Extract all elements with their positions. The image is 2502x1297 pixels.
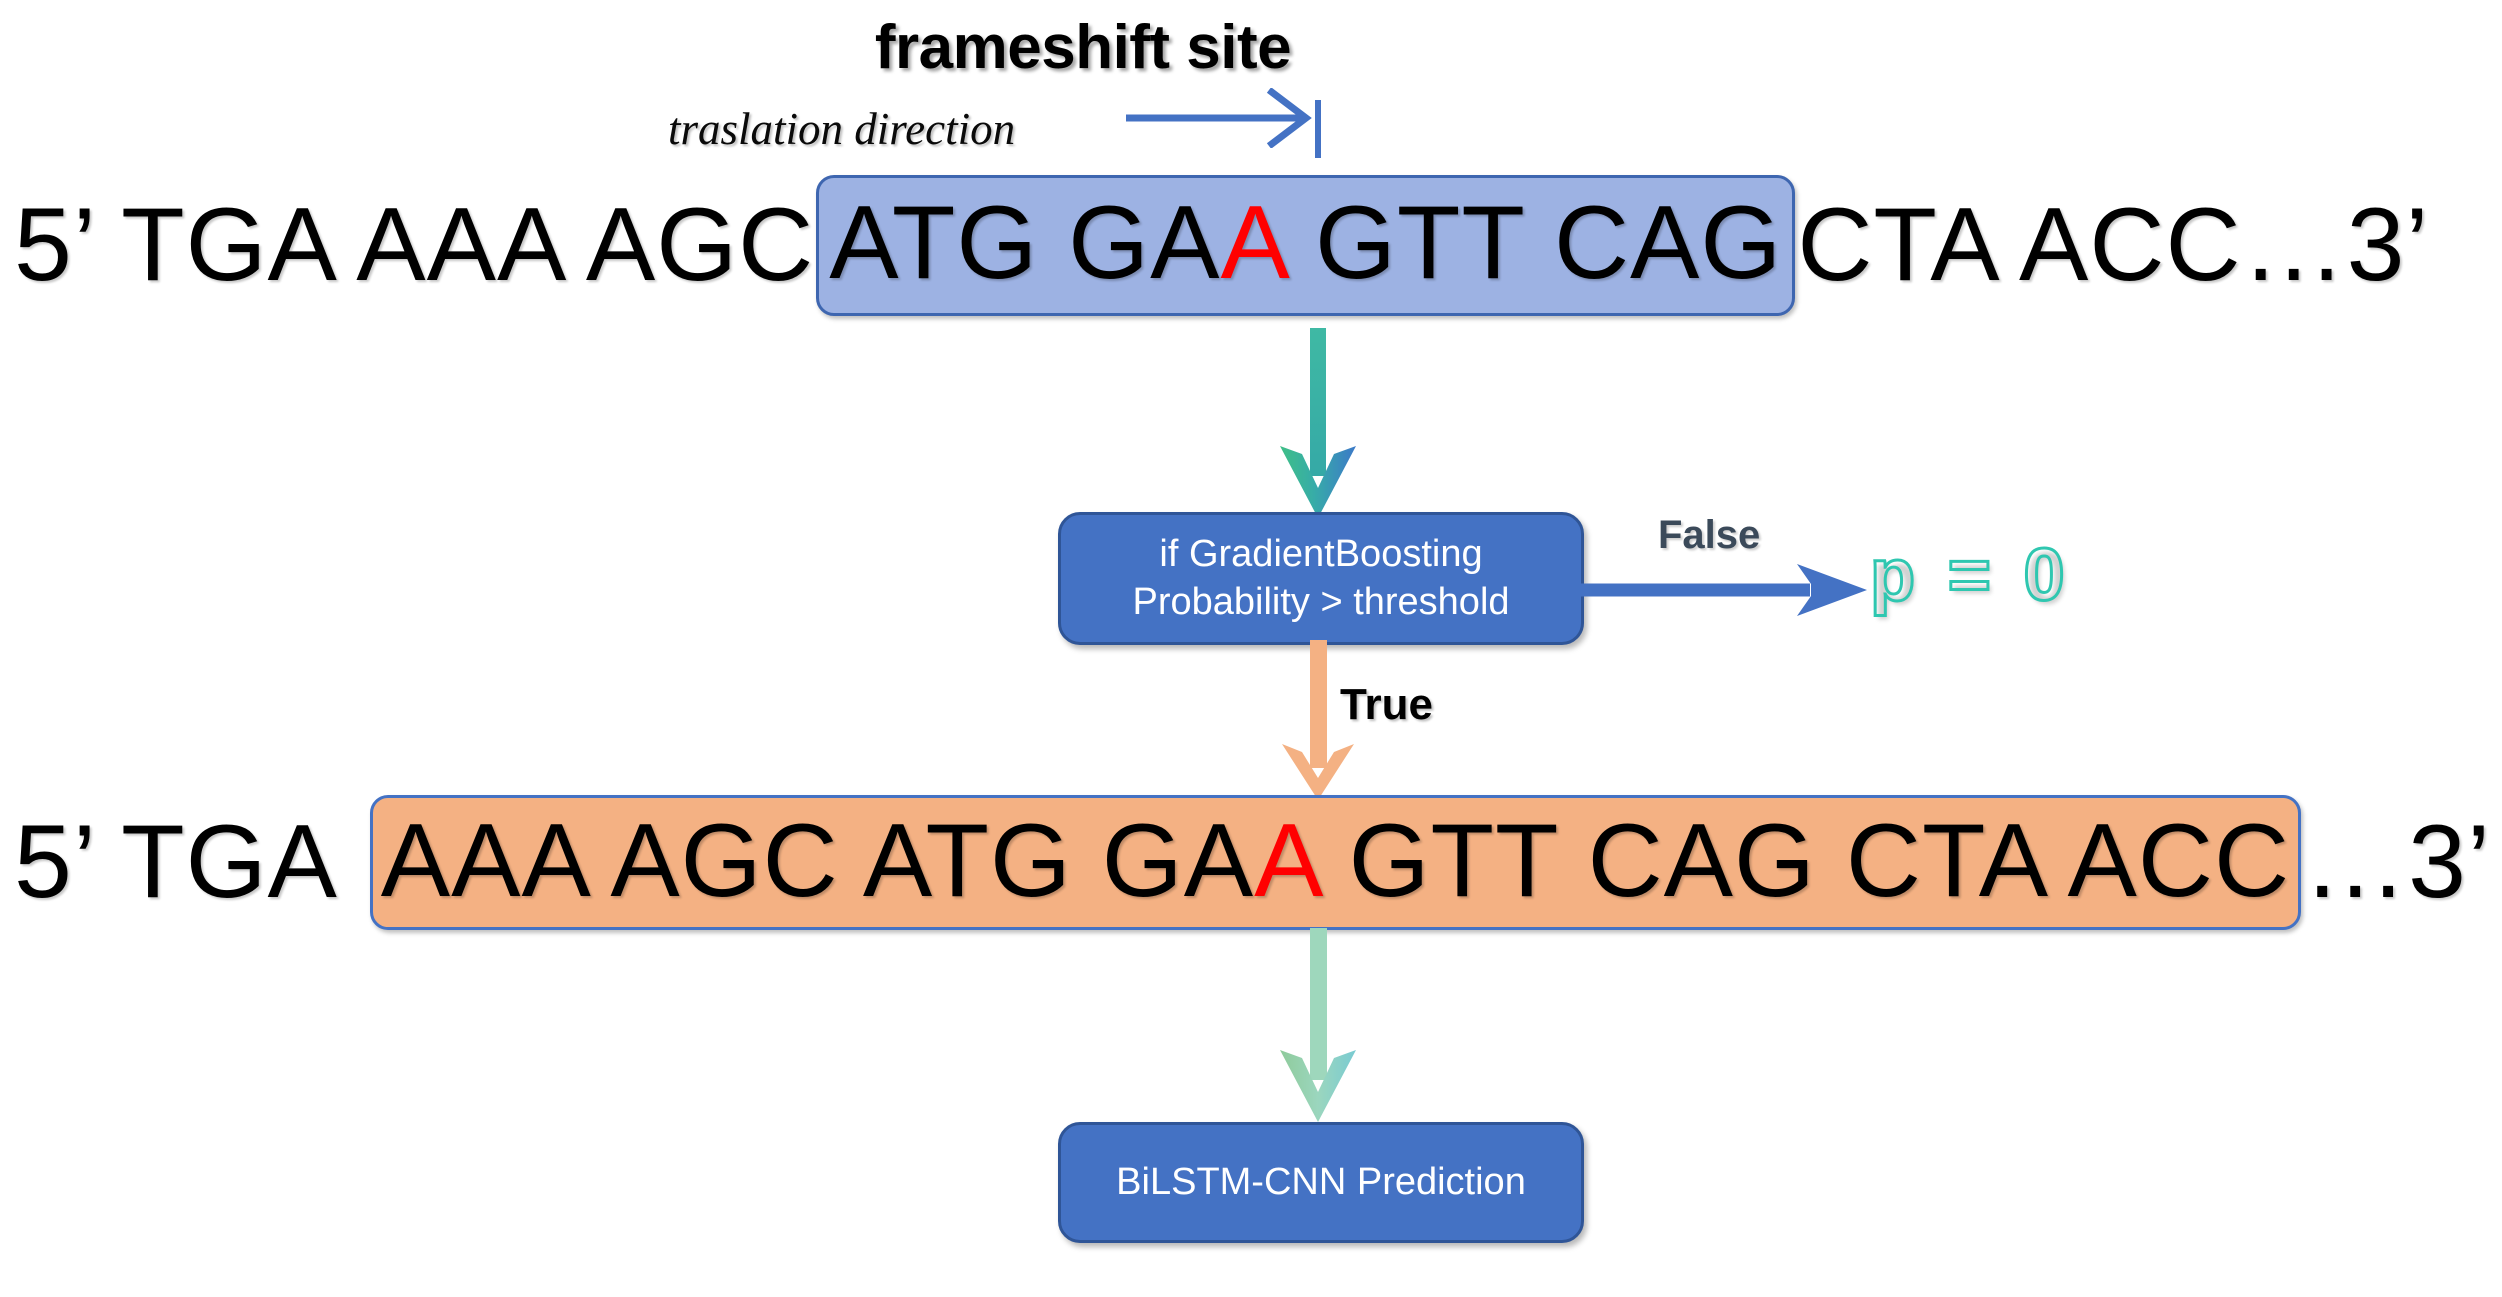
sequence-top-suffix: CTA ACC…3’ [1797,186,2429,305]
right-arrow-icon [1126,88,1316,148]
prediction-box[interactable]: BiLSTM-CNN Prediction [1058,1122,1584,1243]
sequence-bottom-suffix: …3’ [2303,803,2491,922]
false-result-label: p = 0 [1870,532,2071,617]
diagram-canvas: frameshift site traslation direction 5’ … [0,0,2502,1297]
decision-line-2: Probability > threshold [1132,579,1509,627]
sequence-bottom-highlight: AAA AGC ATG GAA GTT CAG CTA ACC [370,795,2301,930]
sequence-top-highlight: ATG GAA GTT CAG [816,175,1795,316]
sequence-top-highlight-head: ATG GA [829,185,1220,301]
translation-direction-label: traslation direction [668,103,1015,155]
sequence-bottom-mutation: A [1254,803,1319,919]
sequence-row-top: 5’ TGA AAA AGCATG GAA GTT CAGCTA ACC…3’ [0,175,2502,316]
prediction-label: BiLSTM-CNN Prediction [1116,1161,1526,1204]
sequence-top-prefix: 5’ TGA AAA AGC [14,186,814,305]
sequence-bottom-highlight-tail: GTT CAG CTA ACC [1319,803,2290,919]
down-arrow-icon-teal [1258,328,1378,520]
sequence-bottom-highlight-head: AAA AGC ATG GA [381,803,1254,919]
decision-box[interactable]: if GradientBoosting Probability > thresh… [1058,512,1584,645]
edge-label-false: False [1658,513,1760,558]
sequence-top-mutation: A [1220,185,1285,301]
page-title: frameshift site [0,12,2334,83]
decision-line-1: if GradientBoosting [1159,531,1482,579]
edge-label-true: True [1340,680,1433,730]
right-arrow-icon-false [1575,560,1875,620]
vertical-tick-icon [1315,100,1321,158]
sequence-top-highlight-tail: GTT CAG [1285,185,1782,301]
sequence-bottom-prefix: 5’ TGA [14,803,338,922]
sequence-row-bottom: 5’ TGA AAA AGC ATG GAA GTT CAG CTA ACC…3… [0,795,2502,930]
down-arrow-icon-green [1258,928,1378,1124]
